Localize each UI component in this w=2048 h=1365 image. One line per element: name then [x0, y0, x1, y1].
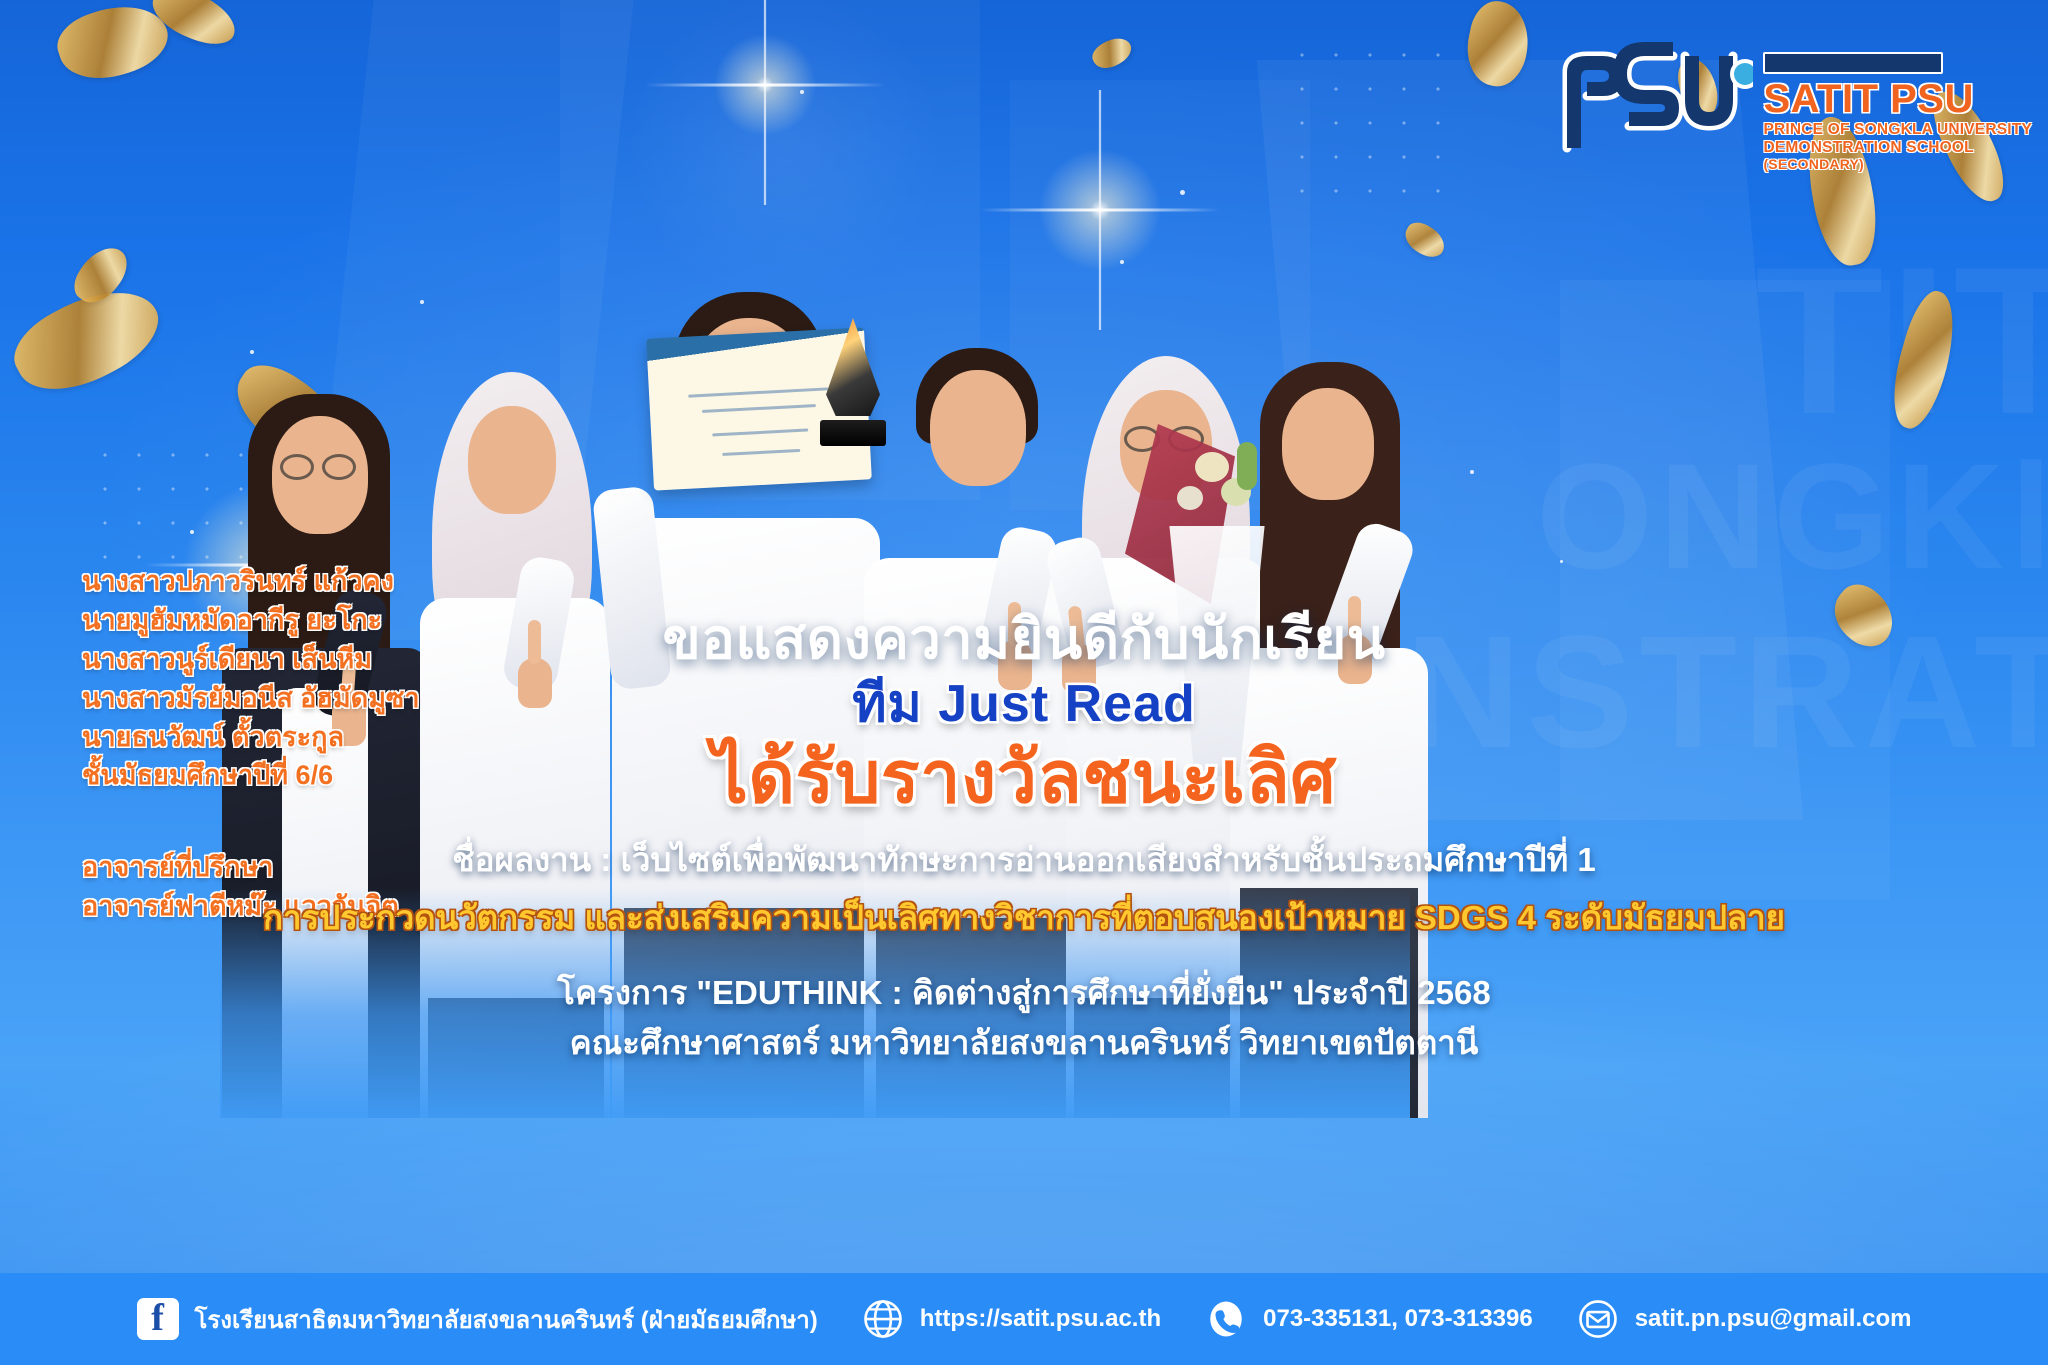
facebook-label: โรงเรียนสาธิตมหาวิทยาลัยสงขลานครินทร์ (ฝ…: [195, 1300, 818, 1339]
glasses-icon: [322, 454, 356, 480]
flower: [1195, 452, 1229, 482]
contact-footer: โรงเรียนสาธิตมหาวิทยาลัยสงขลานครินทร์ (ฝ…: [0, 1273, 2048, 1365]
headline-block: ขอแสดงความยินดีกับนักเรียน ทีม Just Read…: [0, 608, 2048, 1067]
website-label: https://satit.psu.ac.th: [920, 1305, 1161, 1333]
psu-logo-icon: [1553, 38, 1753, 156]
school-subtitle-2: DEMONSTRATION SCHOOL: [1763, 140, 2032, 156]
student-name: นางสาวปภาวรินทร์ แก้วคง: [82, 562, 512, 601]
satit-bar: [1763, 52, 1943, 74]
project-line-1: โครงการ "EDUTHINK : คิดต่างสู่การศึกษาที…: [0, 969, 2048, 1017]
face: [468, 406, 556, 514]
flower: [1237, 442, 1257, 490]
email-label: satit.pn.psu@gmail.com: [1635, 1305, 1912, 1333]
project-line-2: คณะศึกษาศาสตร์ มหาวิทยาลัยสงขลานครินทร์ …: [0, 1019, 2048, 1067]
congratulations-line: ขอแสดงความยินดีกับนักเรียน: [0, 608, 2048, 671]
phone-icon: [1205, 1298, 1247, 1340]
school-subtitle-1: PRINCE OF SONGKLA UNIVERSITY: [1763, 122, 2032, 138]
footer-website[interactable]: https://satit.psu.ac.th: [862, 1298, 1161, 1340]
work-title-line: ชื่อผลงาน : เว็บไซต์เพื่อพัฒนาทักษะการอ่…: [0, 840, 2048, 880]
footer-phone[interactable]: 073-335131, 073-313396: [1205, 1298, 1533, 1340]
phone-label: 073-335131, 073-313396: [1263, 1305, 1533, 1333]
flower: [1177, 486, 1203, 510]
school-subtitle-3: (SECONDARY): [1763, 157, 2032, 171]
globe-icon: [862, 1298, 904, 1340]
psu-satit-logo: SATIT PSU PRINCE OF SONGKLA UNIVERSITY D…: [1553, 38, 2032, 171]
glasses-icon: [280, 454, 314, 480]
poster-canvas: TIT ONGKl EMONSTRAT: [0, 0, 2048, 1365]
award-line: ได้รับรางวัลชนะเลิศ: [0, 739, 2048, 818]
face: [930, 370, 1026, 486]
facebook-icon: [137, 1298, 179, 1340]
email-icon: [1577, 1298, 1619, 1340]
team-name-line: ทีม Just Read: [0, 675, 2048, 733]
school-name: SATIT PSU: [1763, 79, 2032, 119]
contest-line: การประกวดนวัตกรรม และส่งเสริมความเป็นเลิ…: [0, 898, 2048, 938]
footer-email[interactable]: satit.pn.psu@gmail.com: [1577, 1298, 1912, 1340]
satit-text-block: SATIT PSU PRINCE OF SONGKLA UNIVERSITY D…: [1763, 38, 2032, 171]
footer-facebook[interactable]: โรงเรียนสาธิตมหาวิทยาลัยสงขลานครินทร์ (ฝ…: [137, 1298, 818, 1340]
